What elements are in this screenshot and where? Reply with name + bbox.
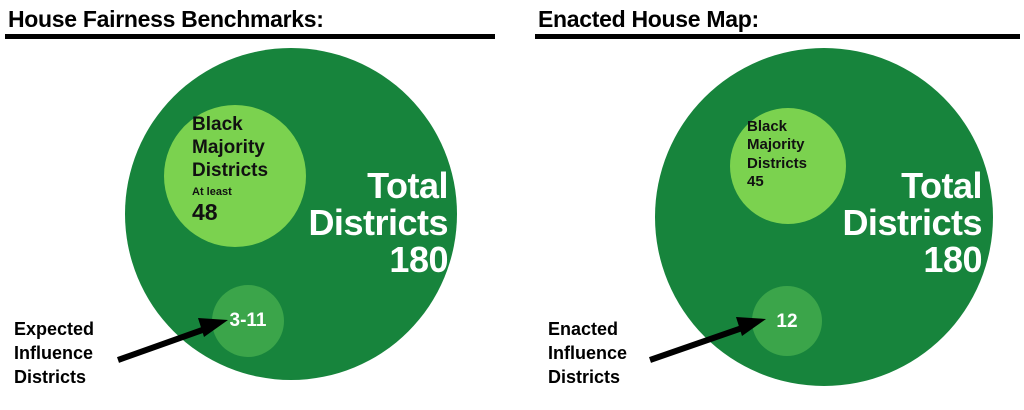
- total-districts-label: Total Districts 180: [830, 168, 982, 279]
- total-districts-value: 180: [300, 242, 448, 279]
- title-underline-rule: [535, 34, 1020, 39]
- callout-line2: Influence: [548, 343, 627, 363]
- influence-districts-callout-label: Expected Influence Districts: [14, 318, 94, 390]
- callout-line1: Expected: [14, 319, 94, 339]
- total-districts-label-line1: Total: [901, 165, 982, 206]
- callout-line2: Influence: [14, 343, 93, 363]
- total-districts-label-line2: Districts: [842, 202, 982, 243]
- influence-districts-value: 12: [752, 311, 822, 333]
- total-districts-value: 180: [830, 242, 982, 279]
- total-districts-label: Total Districts 180: [300, 168, 448, 279]
- black-majority-label-line3: Districts: [747, 155, 807, 172]
- black-majority-districts-label: Black Majority Districts At least 48: [192, 113, 312, 225]
- panel-title: Enacted House Map:: [538, 6, 759, 33]
- panel-title: House Fairness Benchmarks:: [8, 6, 324, 33]
- black-majority-districts-label: Black Majority Districts 45: [747, 118, 852, 191]
- black-majority-label-line2: Majority: [192, 137, 265, 158]
- title-underline-rule: [5, 34, 495, 39]
- black-majority-label-line1: Black: [747, 118, 787, 135]
- black-majority-qualifier: At least: [192, 185, 312, 199]
- black-majority-label-line1: Black: [192, 114, 243, 135]
- black-majority-label-line2: Majority: [747, 136, 805, 153]
- black-majority-value: 48: [192, 200, 312, 225]
- influence-districts-callout-label: Enacted Influence Districts: [548, 318, 627, 390]
- total-districts-label-line1: Total: [367, 165, 448, 206]
- panel-enacted-house-map: Enacted House Map: Total Districts 180 B…: [512, 0, 1024, 410]
- callout-line3: Districts: [14, 367, 86, 387]
- influence-districts-value: 3-11: [212, 310, 284, 332]
- callout-line3: Districts: [548, 367, 620, 387]
- black-majority-value: 45: [747, 173, 852, 191]
- callout-line1: Enacted: [548, 319, 618, 339]
- total-districts-label-line2: Districts: [308, 202, 448, 243]
- black-majority-label-line3: Districts: [192, 160, 268, 181]
- panel-house-fairness-benchmarks: House Fairness Benchmarks: Total Distric…: [0, 0, 512, 410]
